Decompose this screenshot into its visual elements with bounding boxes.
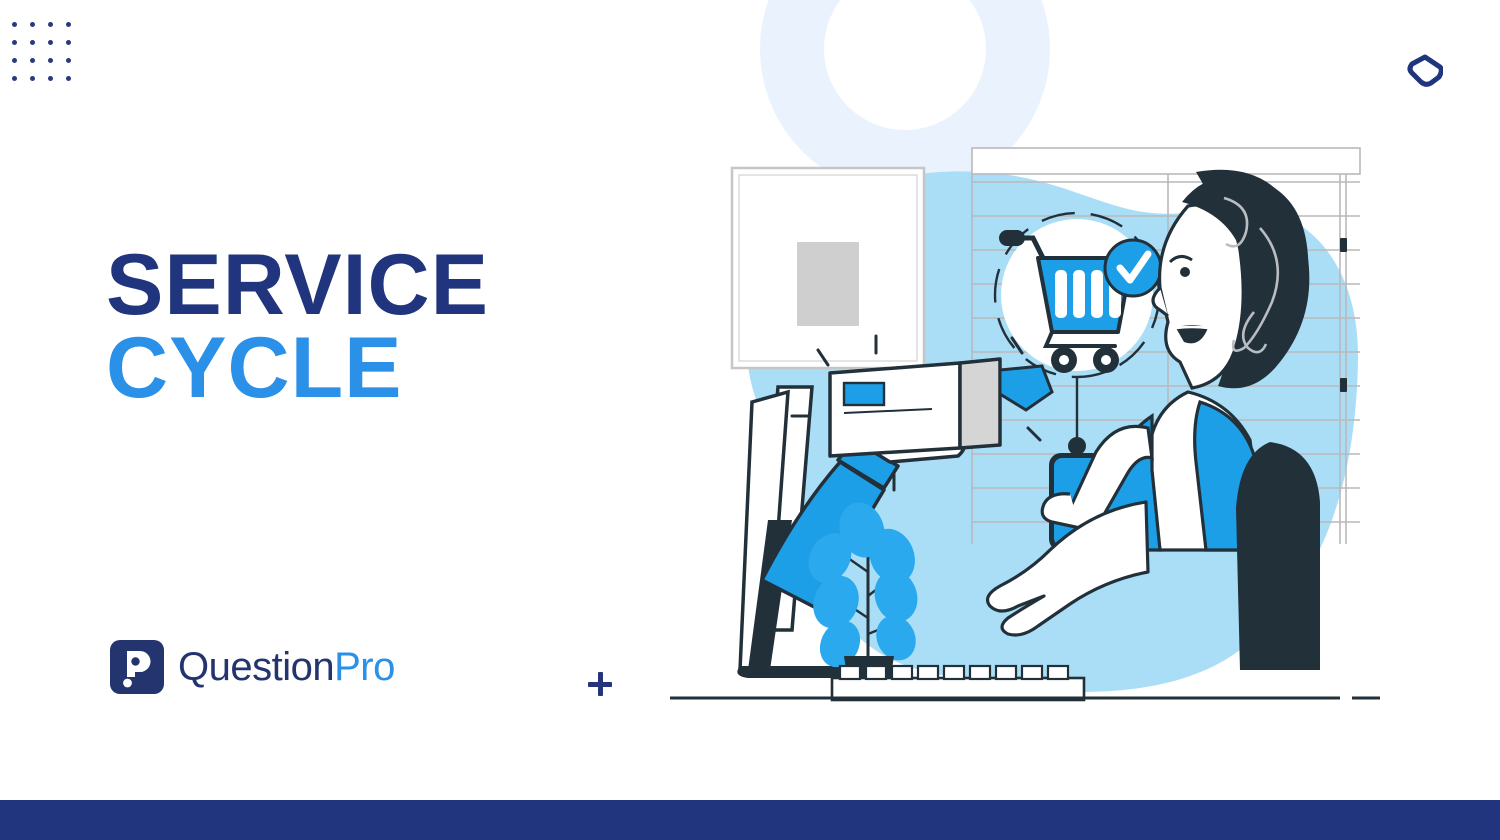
brand-name-part1: Question: [178, 645, 334, 689]
page-title: SERVICE CYCLE: [106, 244, 489, 411]
questionpro-logo: QuestionPro: [110, 640, 395, 694]
brand-name-part2: Pro: [334, 645, 395, 689]
banner-canvas: SERVICE CYCLE QuestionPro: [0, 0, 1500, 840]
office-chair: [1236, 442, 1320, 670]
dot-grid-decoration: [12, 22, 84, 94]
questionpro-wordmark: QuestionPro: [178, 645, 395, 690]
play-triangle-icon: [1407, 53, 1443, 87]
wall-picture-frame: [732, 168, 924, 368]
title-line-1: SERVICE: [106, 244, 489, 327]
check-badge: [1105, 240, 1161, 296]
questionpro-logo-icon: [110, 640, 164, 694]
footer-bar: [0, 800, 1500, 840]
plus-icon: [588, 672, 612, 696]
hero-illustration: [640, 110, 1400, 710]
title-line-2: CYCLE: [106, 327, 489, 410]
